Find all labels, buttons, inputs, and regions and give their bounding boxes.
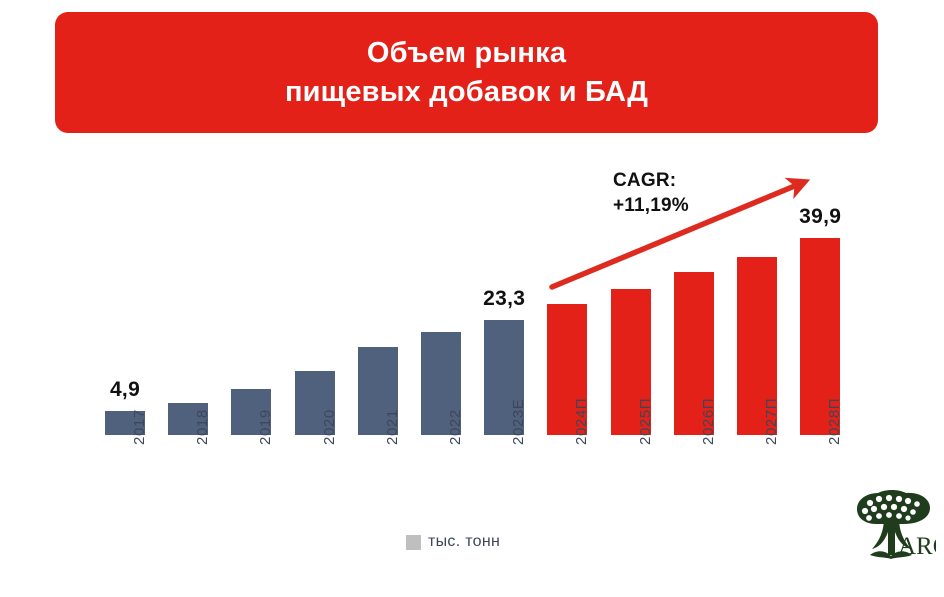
bar-chart: 4,923,339,9 2017201820192020202120222023… <box>0 140 944 597</box>
x-tick-2025П: 2025П <box>637 398 654 445</box>
arg-logo-text: ARG <box>898 533 936 560</box>
x-tick-2023Е: 2023Е <box>510 399 527 445</box>
x-tick-2028П: 2028П <box>826 398 843 445</box>
bar-value-2028П: 39,9 <box>765 205 875 229</box>
x-tick-2026П: 2026П <box>700 398 717 445</box>
cagr-value: +11,19% <box>613 193 689 218</box>
cagr-annotation: CAGR: +11,19% <box>613 168 689 218</box>
x-tick-2020: 2020 <box>321 409 338 445</box>
legend-series-label: тыс. тонн <box>428 533 500 551</box>
x-tick-2024П: 2024П <box>573 398 590 445</box>
x-tick-2021: 2021 <box>384 409 401 445</box>
bar-value-2023Е: 23,3 <box>449 287 559 311</box>
tree-icon: ARG <box>848 487 936 565</box>
x-tick-2027П: 2027П <box>763 398 780 445</box>
legend-swatch-icon <box>406 535 421 550</box>
x-tick-2018: 2018 <box>194 409 211 445</box>
x-tick-2022: 2022 <box>447 409 464 445</box>
title-line-1: Объем рынка <box>367 34 566 72</box>
title-banner: Объем рынка пищевых добавок и БАД <box>55 12 878 133</box>
bar-value-2017: 4,9 <box>70 378 180 402</box>
title-line-2: пищевых добавок и БАД <box>285 73 648 111</box>
arg-logo: ARG <box>848 487 936 565</box>
x-tick-2019: 2019 <box>257 409 274 445</box>
x-tick-2017: 2017 <box>131 409 148 445</box>
chart-legend: тыс. тонн <box>406 533 500 551</box>
cagr-label: CAGR: <box>613 168 689 193</box>
